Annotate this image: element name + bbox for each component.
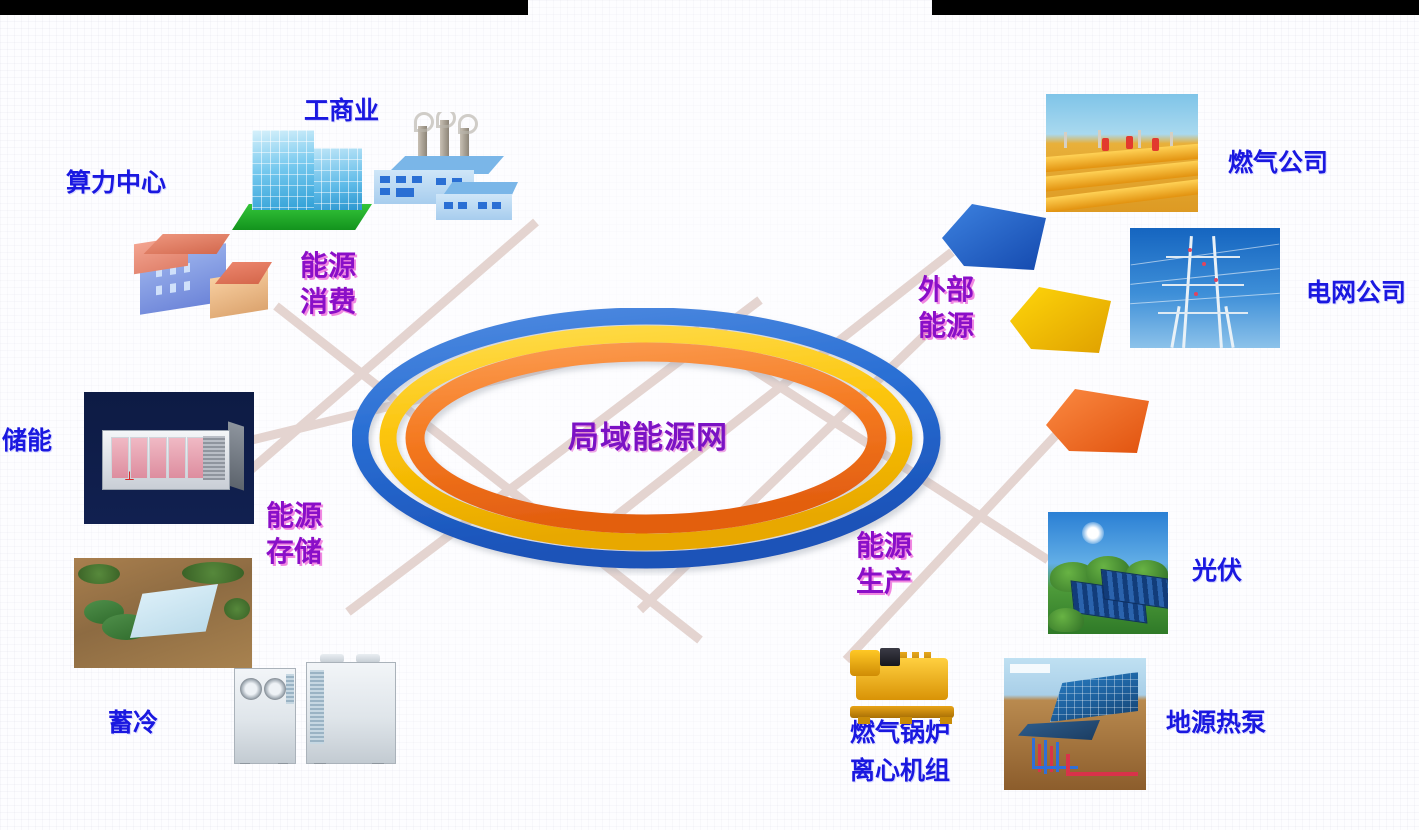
ground-source-heat-pump-icon[interactable] [1004,658,1146,790]
arrow-gas[interactable] [938,196,1050,278]
solar-panel-icon[interactable] [1048,512,1168,634]
category-label-consumption: 能源 消费 [300,248,356,320]
gshp-loop-field [1018,720,1100,740]
node-label-energy-storage: 储能 [2,422,52,460]
container-side [228,421,244,490]
factory-icon[interactable] [366,112,524,230]
node-label-photovoltaic: 光伏 [1192,552,1242,590]
category-label-production: 能源 生产 [856,528,912,600]
gshp-caption-tag [1010,664,1050,673]
node-label-computing-center: 算力中心 [66,164,166,202]
arrow-grid[interactable] [1007,283,1117,361]
transmission-tower-icon[interactable] [1130,228,1280,348]
letterbox-bar-left [0,0,528,15]
factory-smoke-3 [458,114,478,134]
gas-engine-icon[interactable] [846,646,962,724]
center-title: 局域能源网 [548,412,748,457]
node-label-gas-company: 燃气公司 [1228,144,1328,182]
battery-container-icon[interactable] [84,392,254,524]
diagram-canvas: 局域能源网 能源 消费 外部 能源 能源 存储 能源 生产 工商业 算力中心 [0,0,1419,830]
node-label-gas-boiler-chiller: 燃气锅炉 离心机组 [850,714,950,789]
chiller-unit-large-icon[interactable] [306,654,396,764]
node-label-grid-company: 电网公司 [1306,274,1406,312]
cold-storage-icon[interactable] [74,558,252,668]
gas-pipeline-icon[interactable] [1046,94,1198,212]
factory-smoke-2 [436,112,456,128]
cold-storage-hall [130,584,218,638]
gshp-building [1050,672,1138,722]
office-body [252,130,314,210]
chiller-unit-small-icon[interactable] [234,668,296,764]
container-body [102,430,230,490]
office-tower-icon[interactable] [232,118,372,230]
letterbox-bar-right [932,0,1419,15]
data-center-icon[interactable] [118,222,288,340]
factory-smoke-1 [414,112,434,132]
node-label-cold-storage: 蓄冷 [108,704,158,742]
office-wing [312,148,362,210]
category-label-storage: 能源 存储 [266,498,322,570]
node-label-ground-source-heatpump: 地源热泵 [1166,704,1266,742]
arrow-production[interactable] [1043,385,1155,463]
category-label-external: 外部 能源 [918,272,974,344]
sun-icon [1082,522,1104,544]
